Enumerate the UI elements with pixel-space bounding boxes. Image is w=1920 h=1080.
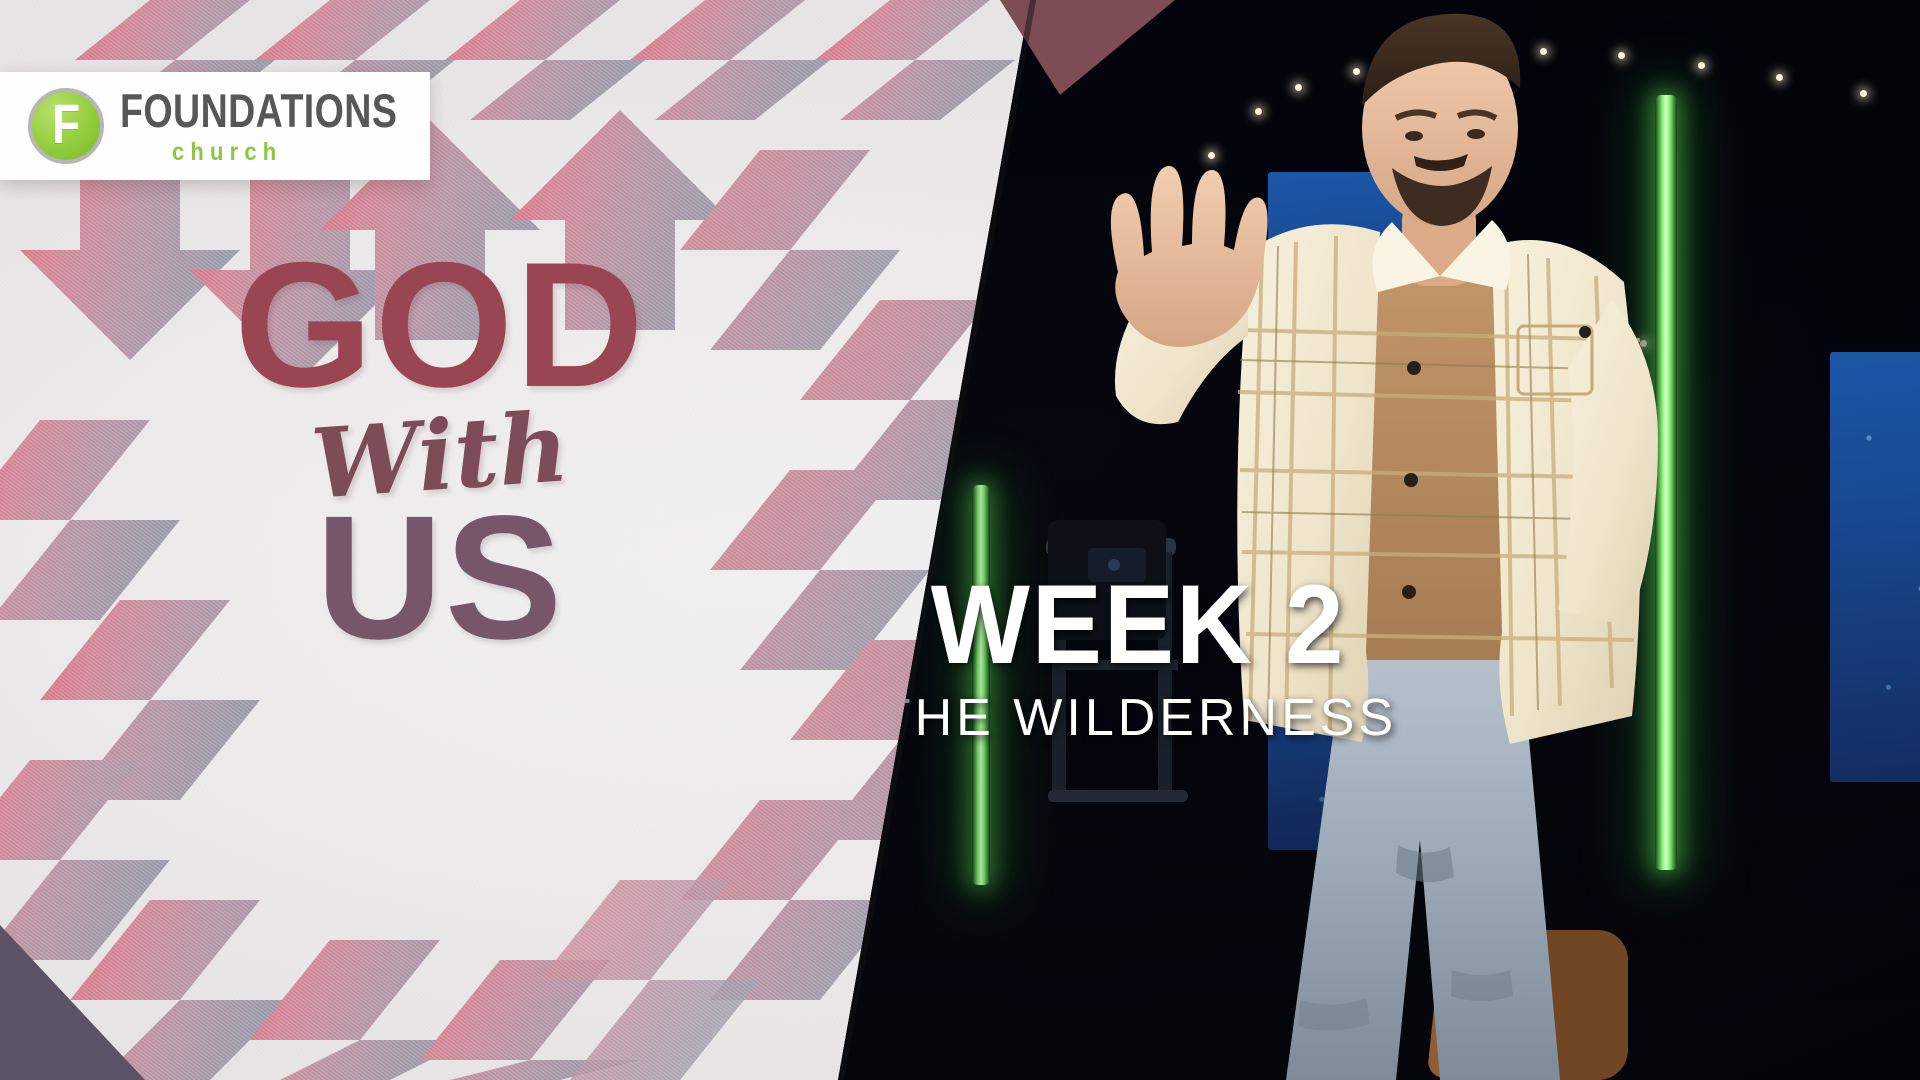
episode-title: WEEK 2 (837, 572, 1439, 678)
video-thumbnail: GOD With US (0, 0, 1920, 1080)
logo-brand-sub: church (172, 140, 431, 165)
logo-brand-name: FOUNDATIONS (120, 87, 397, 134)
series-title-block: GOD With US (120, 248, 760, 657)
logo-wordmark: FOUNDATIONS church (120, 87, 467, 165)
episode-subtitle: THE WILDERNESS (818, 690, 1458, 747)
church-logo-plate[interactable]: F FOUNDATIONS church (0, 72, 430, 180)
foundations-f-logo-icon: F (28, 88, 104, 164)
series-title-line-3: US (120, 499, 760, 657)
logo-letter: F (52, 96, 80, 152)
series-title-line-1: GOD (120, 248, 760, 401)
